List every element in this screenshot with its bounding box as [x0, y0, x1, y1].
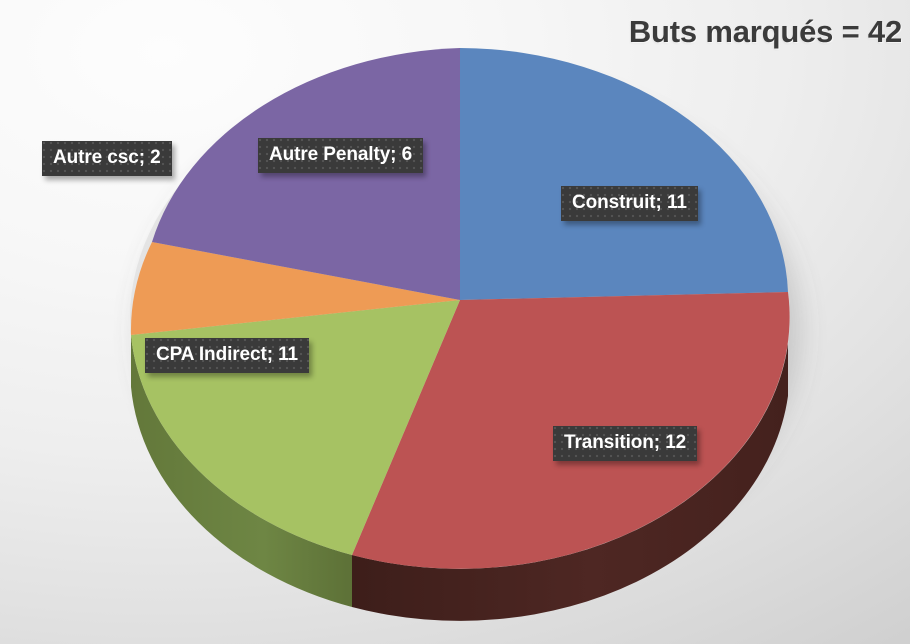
data-label-autre-penalty[interactable]: Autre Penalty; 6 — [258, 138, 423, 173]
data-label-autre-csc[interactable]: Autre csc; 2 — [42, 141, 172, 176]
data-label-construit[interactable]: Construit; 11 — [561, 186, 698, 221]
pie-slice-construit[interactable] — [460, 48, 788, 300]
data-label-cpa-indirect[interactable]: CPA Indirect; 11 — [145, 338, 309, 373]
slide-canvas: Buts marqués = 42 — [0, 0, 910, 644]
pie-top-face — [131, 48, 790, 569]
pie-chart-svg — [0, 0, 910, 644]
pie-chart[interactable] — [0, 0, 910, 644]
data-label-transition[interactable]: Transition; 12 — [553, 426, 697, 461]
